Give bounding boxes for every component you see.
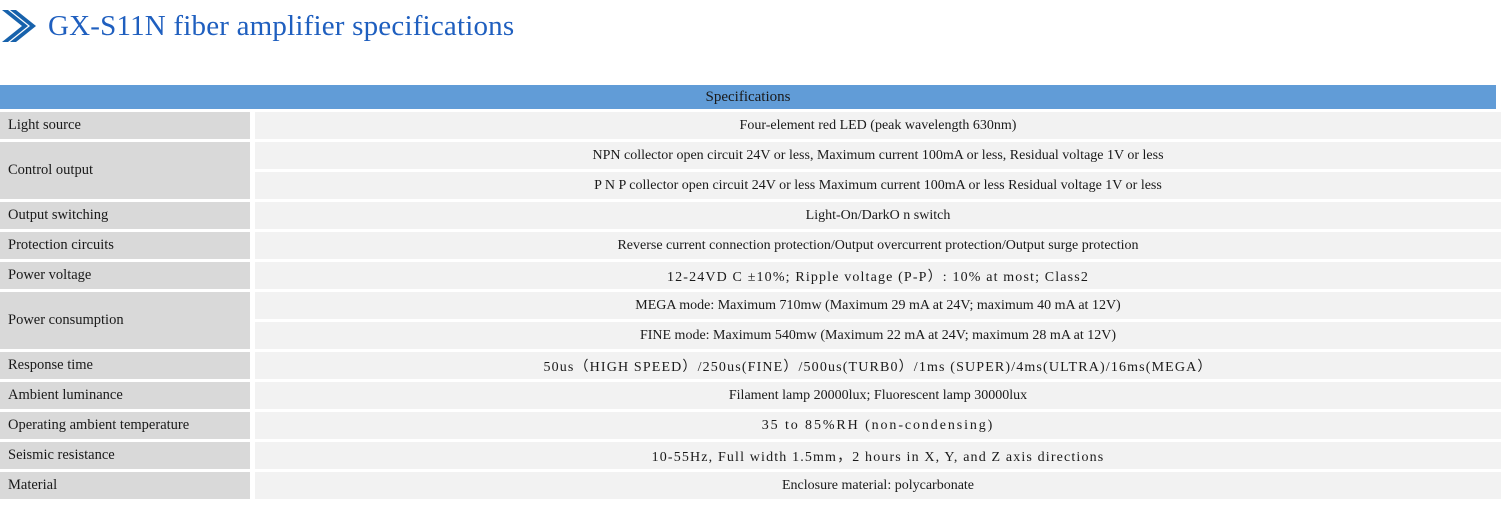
row-values: Enclosure material: polycarbonate — [255, 472, 1501, 499]
row-label-control-output: Control output — [0, 142, 250, 199]
value-cell: Filament lamp 20000lux; Fluorescent lamp… — [255, 382, 1501, 409]
row-label-operating-ambient-temperature: Operating ambient temperature — [0, 412, 250, 439]
value-cell: 12-24VD C ±10%; Ripple voltage (P-P）: 10… — [255, 262, 1501, 289]
value-cell: Light-On/DarkO n switch — [255, 202, 1501, 229]
value-cell: Four-element red LED (peak wavelength 63… — [255, 112, 1501, 139]
row-values: Reverse current connection protection/Ou… — [255, 232, 1501, 259]
row-values: 50us（HIGH SPEED）/250us(FINE）/500us(TURB0… — [255, 352, 1501, 379]
row-values: MEGA mode: Maximum 710mw (Maximum 29 mA … — [255, 292, 1501, 349]
row-label-response-time: Response time — [0, 352, 250, 379]
chevron-right-icon — [0, 4, 42, 48]
value-cell: FINE mode: Maximum 540mw (Maximum 22 mA … — [255, 322, 1501, 349]
page-header: GX-S11N fiber amplifier specifications — [0, 0, 1501, 52]
table-row: Protection circuits Reverse current conn… — [0, 232, 1501, 259]
value-cell: Reverse current connection protection/Ou… — [255, 232, 1501, 259]
row-label-light-source: Light source — [0, 112, 250, 139]
value-cell: MEGA mode: Maximum 710mw (Maximum 29 mA … — [255, 292, 1501, 319]
row-label-protection-circuits: Protection circuits — [0, 232, 250, 259]
table-body: Light source Four-element red LED (peak … — [0, 112, 1501, 499]
page-title: GX-S11N fiber amplifier specifications — [48, 12, 514, 41]
value-cell: 50us（HIGH SPEED）/250us(FINE）/500us(TURB0… — [255, 352, 1501, 379]
table-row: Power voltage 12-24VD C ±10%; Ripple vol… — [0, 262, 1501, 289]
table-row: Operating ambient temperature 35 to 85%R… — [0, 412, 1501, 439]
table-row: Control output NPN collector open circui… — [0, 142, 1501, 199]
row-label-output-switching: Output switching — [0, 202, 250, 229]
table-row: Ambient luminance Filament lamp 20000lux… — [0, 382, 1501, 409]
table-row: Light source Four-element red LED (peak … — [0, 112, 1501, 139]
row-values: 10-55Hz, Full width 1.5mm，2 hours in X, … — [255, 442, 1501, 469]
table-row: Seismic resistance 10-55Hz, Full width 1… — [0, 442, 1501, 469]
value-cell: NPN collector open circuit 24V or less, … — [255, 142, 1501, 169]
value-cell: P N P collector open circuit 24V or less… — [255, 172, 1501, 199]
row-label-seismic-resistance: Seismic resistance — [0, 442, 250, 469]
table-row: Output switching Light-On/DarkO n switch — [0, 202, 1501, 229]
value-cell: 10-55Hz, Full width 1.5mm，2 hours in X, … — [255, 442, 1501, 469]
value-cell: 35 to 85%RH (non-condensing) — [255, 412, 1501, 439]
row-label-material: Material — [0, 472, 250, 499]
row-label-power-voltage: Power voltage — [0, 262, 250, 289]
table-row: Power consumption MEGA mode: Maximum 710… — [0, 292, 1501, 349]
row-values: 35 to 85%RH (non-condensing) — [255, 412, 1501, 439]
value-cell: Enclosure material: polycarbonate — [255, 472, 1501, 499]
table-row: Response time 50us（HIGH SPEED）/250us(FIN… — [0, 352, 1501, 379]
row-values: Light-On/DarkO n switch — [255, 202, 1501, 229]
row-values: Four-element red LED (peak wavelength 63… — [255, 112, 1501, 139]
row-values: Filament lamp 20000lux; Fluorescent lamp… — [255, 382, 1501, 409]
table-header: Specifications — [0, 85, 1496, 109]
row-label-power-consumption: Power consumption — [0, 292, 250, 349]
specifications-table: Specifications Light source Four-element… — [0, 85, 1501, 499]
row-values: NPN collector open circuit 24V or less, … — [255, 142, 1501, 199]
table-header-label: Specifications — [706, 89, 791, 106]
table-row: Material Enclosure material: polycarbona… — [0, 472, 1501, 499]
row-values: 12-24VD C ±10%; Ripple voltage (P-P）: 10… — [255, 262, 1501, 289]
row-label-ambient-luminance: Ambient luminance — [0, 382, 250, 409]
